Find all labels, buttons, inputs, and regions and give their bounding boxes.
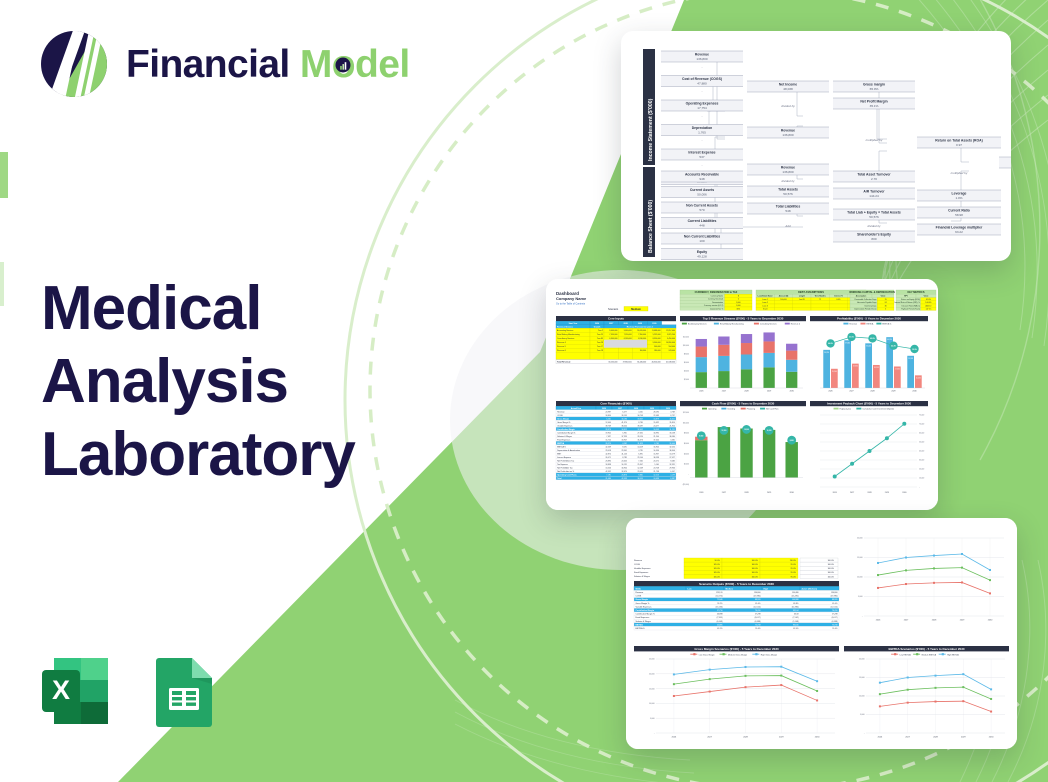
wc-section-row-label: Depreciation Period (Years)	[854, 308, 876, 311]
core-financials-cell: 4,262	[622, 443, 626, 445]
core-financials-row-label: Salaries & Wages	[557, 435, 572, 438]
scenario-input-value: 95.0%	[791, 568, 797, 570]
op-add: Add	[784, 224, 791, 228]
preview-ytick: 15,000	[857, 557, 863, 559]
debt-section-cell	[774, 301, 792, 304]
currency-section-row-value: 30%	[737, 308, 741, 310]
currency-section-row-value: 0	[738, 299, 739, 301]
revenue-streams-bar-segment	[763, 367, 774, 388]
scenario-outputs-row-label: Salaries & Wages	[636, 621, 651, 623]
payback-xtick: 2027	[850, 492, 854, 494]
ebitda-scenarios-chart-ytick: 5,000	[860, 714, 865, 716]
scenario-input-value: 105.0%	[714, 564, 721, 566]
scenario-outputs-cell: (4,898)	[755, 621, 761, 623]
cash-flow-chart-legend-swatch	[760, 408, 765, 410]
profitability-xtick: 2029	[891, 390, 895, 392]
core-inputs-cell-text: Revenue 4	[557, 342, 566, 344]
core-inputs-sub-label: Growth	[594, 325, 601, 328]
cash-flow-net-value: 10,100	[767, 430, 772, 432]
mid-total-liabilities-label: Total Liabilities	[776, 205, 801, 209]
core-inputs-total-value: 35,446,000	[637, 362, 646, 364]
core-financials-cell: 4,768	[670, 411, 674, 413]
final-current-ratio-label: Current Ratio	[948, 209, 970, 213]
core-financials-cell: 21,738	[653, 471, 658, 473]
debt-section-cell	[774, 307, 792, 310]
debt-section-cell	[829, 307, 847, 310]
scenario-outputs-cell: 65.0%	[755, 603, 761, 605]
scenario-outputs-cell: 59.2%	[717, 603, 723, 605]
core-inputs-cell-text: Year 25	[597, 334, 603, 336]
scenario-outputs-cell: 76,410	[832, 610, 838, 612]
is-node-0-label: Revenue	[695, 53, 709, 57]
ebitda-scenarios-chart-series-point	[907, 677, 909, 679]
debt-section-col-label: Interest %	[834, 295, 843, 298]
profitability-ebitda-bar	[915, 375, 922, 388]
metrics-section-row-value: 1.4 Yrs	[926, 309, 932, 311]
cash-flow-ytick: $2,000	[684, 464, 689, 466]
cash-flow-xtick: 2026	[699, 492, 703, 494]
core-inputs-cell-text: 8,390,000	[653, 338, 661, 340]
revenue-streams-bar-segment	[786, 351, 797, 360]
core-financials-cell: 42,332	[605, 471, 610, 473]
profitability-revenue-label: 40,324	[887, 339, 892, 341]
operator-minus: -	[701, 139, 702, 143]
scenario-outputs-col	[634, 586, 686, 590]
scenario-analysis-card[interactable]: Revenue90.0%100.0%110.0%100.0%COGS105.0%…	[626, 518, 1017, 749]
scenario-outputs-row	[634, 612, 839, 616]
final-fin-leverage-mult-label: Financial Leverage multiplier	[936, 226, 983, 230]
ratio-total-liab-equity-label: Total Liab + Equity = Total Assets	[847, 211, 901, 215]
core-financials-cell: 30,900	[621, 467, 626, 469]
core-financials-cell: 5,955	[622, 432, 626, 434]
scenario-outputs-cell: 63,58	[794, 614, 799, 616]
payback-ytick: 30,000	[919, 460, 924, 462]
is-node-4-value: 537	[699, 155, 704, 159]
scenario-input-value: 100.0%	[752, 560, 759, 562]
core-financials-cell: 15,725	[605, 439, 610, 441]
revenue-streams-xtick: 2030	[790, 390, 794, 392]
final-roa-label: Return on Total Assets (ROA)	[935, 139, 982, 143]
scenario-outputs-row-label: Fixed Expenses	[636, 617, 650, 619]
core-financials-cell: 27,631	[637, 432, 642, 434]
financial-dashboard: DashboardCompany NameGo to the Table of …	[546, 279, 938, 510]
ratio-total-asset-turnover-value: 2.70	[871, 177, 877, 181]
core-financials-cell: 8,084	[670, 460, 674, 462]
preview-series-point	[933, 555, 935, 557]
scenario-outputs-panel-title: Scenario Outputs ($'000) - 5 Years to De…	[699, 582, 774, 586]
debt-section-cell-text: Jan-26	[799, 299, 805, 301]
core-inputs-cell-text: 10,890,000	[666, 342, 675, 344]
core-financials-cell: 13,506	[605, 467, 610, 469]
cash-flow-chart-legend-label: Financing	[747, 409, 755, 411]
core-inputs-cell-text: Year 28	[597, 342, 603, 344]
brand-name-o: o	[332, 45, 355, 84]
core-financials-cell: 41,143	[621, 453, 626, 455]
revenue-streams-xtick: 2026	[699, 390, 703, 392]
revenue-streams-chart-legend-swatch	[682, 323, 687, 325]
scenario-outputs-row	[634, 616, 839, 620]
scenario-outputs-cell: (50,274)	[716, 596, 723, 598]
core-inputs-cell-text: 594,000	[669, 346, 676, 348]
gross-margin-scenarios-chart-series-point	[816, 680, 818, 682]
ebitda-scenarios-chart-ytick: 15,000	[859, 677, 865, 679]
core-inputs-cell-text: Year 2	[598, 330, 603, 332]
preview-ytick: 20,000	[857, 538, 863, 540]
core-financials-cell: 31,291	[669, 429, 674, 431]
scenario-outputs-cell: 88,920	[755, 599, 761, 601]
currency-section-row-value: 1,000	[736, 302, 741, 304]
ratio-shareholders-equity-label: Shareholder's Equity	[857, 233, 891, 237]
gross-margin-scenarios-chart-series-point	[745, 675, 747, 677]
core-financials-cell: 18,907	[621, 439, 626, 441]
cash-flow-chart-legend-label: Operating	[708, 408, 716, 411]
scenario-outputs-cell: 76,410	[755, 610, 761, 612]
revenue-streams-bar-segment	[786, 344, 797, 351]
dupont-analysis-card[interactable]: Income Statement ($'000) Balance Sheet (…	[621, 31, 1011, 261]
scenario-input-label: Fixed Expenses	[634, 572, 648, 574]
revenue-streams-bar-segment	[696, 357, 707, 372]
dupont-analysis-diagram: Income Statement ($'000) Balance Sheet (…	[621, 31, 1011, 261]
ebitda-scenarios-chart-legend-marker	[942, 653, 944, 655]
currency-section-row-value: 1,000	[736, 305, 741, 307]
core-financials-cell: 27,027	[669, 457, 674, 459]
scenario-input-label: Revenue	[634, 560, 643, 562]
gross-margin-scenarios-chart-series-point	[709, 669, 711, 671]
bs-node-2-label: Non Current Assets	[686, 204, 718, 208]
mid-revenue-value: 136,800	[782, 133, 793, 137]
core-financials-row-label: Net Profit After Tax	[557, 466, 572, 469]
core-financials-col-label: 2028	[634, 408, 638, 410]
core-inputs-total-value: 41,538,000	[666, 362, 675, 364]
core-financials-cell: 37,993	[621, 436, 626, 438]
mini-chart-dot-icon	[336, 57, 351, 72]
core-inputs-blank-row	[662, 352, 676, 359]
core-financials-cell: 21,084	[605, 478, 610, 480]
wc-section-col-label: Value	[881, 296, 886, 298]
bs-node-0-label: Accounts Receivable	[685, 173, 719, 177]
left-content-pane: Financial Mo del Medical Analysis Labora…	[0, 0, 470, 782]
scenario-input-value: 90.0%	[715, 560, 721, 562]
core-financials-cell: 6,477	[622, 411, 626, 413]
revenue-streams-bar-segment	[718, 356, 729, 371]
profitability-chart-title: Profitability ($'000) - 5 Years to Decem…	[837, 317, 901, 321]
core-financials-cell: 38,580	[669, 436, 674, 438]
wc-section-col-label: Assumption	[856, 295, 866, 298]
core-financials-row-label: Fixed Expenses	[557, 439, 570, 441]
core-financials-cell: 38,555	[637, 478, 642, 480]
debt-section-cell-text: Loan 3	[762, 305, 768, 307]
gross-margin-scenarios-chart-title: Gross Margin Scenarios ($'000) - 5 Years…	[694, 647, 779, 651]
core-inputs-cell-text: 5,821,200	[667, 334, 675, 336]
payback-point	[850, 462, 854, 466]
core-inputs-blank-block	[604, 340, 647, 348]
pie-bar-circle-logo-icon	[36, 26, 112, 102]
is-node-3-value: 1,765	[698, 131, 706, 135]
scenario-outputs-row	[634, 598, 839, 602]
preview-series-point	[933, 582, 935, 584]
revenue-streams-bar-segment	[741, 369, 752, 388]
ratio-total-liab-equity-value: 50,576	[869, 215, 879, 219]
scenario-outputs-row-label: COGS	[636, 596, 642, 598]
scenario-outputs-row-label: Variable Expenses	[636, 606, 652, 608]
ebitda-scenarios-chart-series-point	[990, 688, 992, 690]
ebitda-scenarios-chart-series-point	[962, 686, 964, 688]
ratio-total-asset-turnover-label: Total Asset Turnover	[857, 173, 891, 177]
core-financials-cell: 28,876	[605, 429, 610, 431]
scenario-outputs-row	[634, 601, 839, 605]
core-financials-cell: 41,374	[621, 422, 626, 424]
core-financials-col-label: 2030	[666, 408, 670, 410]
final-fin-leverage-mult-value: 63.22	[955, 230, 963, 234]
core-financials-cell: 28,290	[653, 411, 658, 413]
gross-margin-scenarios-chart-series-point	[780, 675, 782, 677]
scenario-outputs-row-label: EBITDA	[636, 623, 644, 626]
core-financials-cell: 23,451	[637, 471, 642, 473]
core-financials-panel-title: Core Financials ($'000)	[600, 402, 631, 406]
core-financials-row-label: Gross Margin	[557, 417, 570, 420]
core-financials-cell: 34,743	[637, 415, 642, 417]
core-financials-cell: 39,497	[637, 425, 642, 427]
core-financials-cell: 23,894	[605, 460, 610, 462]
preview-series-point	[961, 581, 963, 583]
core-financials-row-label: EBITDA	[557, 442, 565, 445]
debt-section-cell	[829, 304, 847, 307]
core-financials-cell: 42,469	[605, 446, 610, 448]
scenario-outputs-cell: 65.0%	[832, 603, 838, 605]
scenario-active-value: 100.0%	[828, 572, 835, 574]
scenario-outputs-cell: 75,708	[755, 624, 761, 626]
payback-xtick: 2029	[885, 492, 889, 494]
brand-name-financial: Financial	[126, 43, 290, 86]
operator-minus: -	[701, 65, 702, 69]
revenue-streams-bar-segment	[763, 353, 774, 367]
scenario-outputs-cell: 150,480	[792, 592, 799, 594]
revenue-streams-ytick: $4,000	[684, 371, 689, 373]
is-node-0-value: 136,800	[696, 57, 707, 61]
preview-series-point	[905, 569, 907, 571]
bs-node-3-label: Current Liabilities	[688, 219, 717, 223]
core-inputs-cell-text: 12,857,460	[666, 330, 675, 332]
mid-total-liabilities-value: 548	[785, 209, 790, 213]
scenario-outputs-row-label: Contribution Margin	[636, 609, 655, 612]
profitability-xtick: 2027	[849, 390, 853, 392]
core-inputs-sub-label: Revenue Streams	[557, 325, 573, 328]
scenario-active-value: 100.0%	[828, 560, 835, 562]
core-financials-cell: 13,879	[653, 418, 658, 420]
core-inputs-cell	[618, 348, 632, 352]
revenue-streams-chart-title: Top 5 Revenue Streams ($'000) - 5 Years …	[703, 317, 784, 321]
scenario-outputs-col-label: Low	[688, 588, 692, 590]
core-financials-cell: 30,186	[621, 418, 626, 420]
gross-margin-scenarios-chart-legend-marker	[723, 653, 725, 655]
gross-margin-scenarios-chart-series-point	[673, 695, 675, 697]
revenue-streams-bar-segment	[696, 347, 707, 358]
headline-line-2: Analysis	[41, 345, 355, 418]
scenario-outputs-row	[634, 619, 839, 623]
wc-section-row-label: Inventory Days	[864, 304, 876, 307]
revenue-streams-ytick: $10,000	[683, 345, 689, 347]
core-inputs-col-label: 2027	[609, 323, 613, 325]
ebitda-scenarios-chart-series-point	[879, 682, 881, 684]
gross-margin-scenarios-chart-series-point	[673, 683, 675, 685]
scenario-outputs-cell: (47,880)	[754, 596, 761, 598]
table-of-contents-link: Go to the Table of Contents	[556, 303, 586, 306]
core-financials-cell: 28,124	[637, 436, 642, 438]
gross-margin-scenarios-chart-series-point	[816, 699, 818, 701]
preview-series-point	[905, 557, 907, 559]
core-inputs-cell-text: 8,400,000	[609, 330, 617, 332]
core-financials-cell: 25,907	[637, 464, 642, 466]
cash-flow-ytick: $6,000	[684, 443, 689, 445]
core-inputs-col-label: 2028	[623, 323, 627, 325]
debt-section-cell-text: 6.0%	[836, 299, 840, 301]
ebitda-scenarios-chart-series-point	[962, 673, 964, 675]
scenario-outputs-row	[634, 594, 839, 598]
debt-section-col-label: Length	[799, 295, 805, 298]
scenario-input-value: 95.0%	[791, 572, 797, 574]
ebitda-scenarios-chart-series-point	[990, 711, 992, 713]
operator-minus: -	[701, 163, 702, 167]
debt-section-cell	[811, 301, 829, 304]
revenue-streams-xtick: 2028	[744, 390, 748, 392]
metrics-section-row-value: 61.0%	[926, 299, 931, 301]
financial-dashboard-card[interactable]: DashboardCompany NameGo to the Table of …	[546, 279, 938, 510]
scenario-outputs-col	[686, 586, 724, 590]
core-inputs-cell-text: Year 17	[597, 346, 603, 348]
bs-node-5-value: 49,128	[697, 255, 707, 259]
payback-point	[833, 475, 837, 479]
wc-section-row-value: 5	[885, 309, 886, 311]
core-financials-cell: 32,000	[669, 443, 674, 445]
cash-flow-operating-bar	[740, 428, 752, 477]
scenario-input-value: 100.0%	[752, 568, 759, 570]
revenue-streams-bar-segment	[696, 372, 707, 388]
scenario-value: Medium	[631, 307, 641, 311]
cash-flow-ytick: $8,000	[684, 433, 689, 435]
ratio-gross-margin-value: 65.0%	[870, 87, 879, 91]
preview-ytick: 5,000	[858, 596, 863, 598]
core-inputs-total-value: 40,324,000	[652, 362, 661, 364]
profitability-chart-legend-swatch	[876, 323, 881, 325]
core-inputs-col-label: 2026	[595, 323, 599, 325]
core-inputs-total-label: Total Revenue	[557, 361, 571, 364]
op-divided-2: divided by	[781, 179, 795, 183]
scenario-outputs-cell: 57,710	[717, 610, 723, 612]
headline-line-1: Medical	[41, 272, 355, 345]
core-inputs-total-value: 37,860,000	[623, 362, 632, 364]
preview-series-point	[877, 562, 879, 564]
revenue-streams-bar-segment	[718, 371, 729, 388]
revenue-streams-bar-segment	[763, 341, 774, 352]
is-node-3-label: Depreciation	[692, 126, 713, 130]
ratio-gross-margin-label: Gross margin	[863, 83, 885, 87]
op-divided-3: divided by	[867, 224, 881, 228]
core-inputs-cell-text: Consultancy Services	[557, 337, 574, 340]
core-financials-cell: 8,737	[670, 415, 674, 417]
profitability-ebitda-pct-value: 51.1%	[849, 337, 854, 339]
core-financials-cell: 15,937	[653, 453, 658, 455]
payback-point	[868, 449, 872, 453]
cash-flow-operating-bar	[695, 440, 707, 477]
ebitda-scenarios-chart-legend-marker	[916, 653, 918, 655]
scenario-outputs-cell: (7,562)	[793, 617, 799, 619]
bs-node-4-value: 100	[699, 239, 704, 243]
core-financials-cell: 8,736	[638, 422, 642, 424]
scenario-outputs-cell: (4,898)	[832, 621, 838, 623]
revenue-streams-bar-segment	[741, 343, 752, 354]
scenario-outputs-cell: 57,298	[755, 614, 761, 616]
gross-margin-scenarios-chart-ytick: 15,000	[649, 688, 655, 690]
ebitda-scenarios-chart-series-point	[935, 701, 937, 703]
core-financials-cell: 29,361	[621, 450, 626, 452]
currency-section-row-label: Currency Decimals	[708, 299, 723, 301]
core-inputs-cell-text: 11,688,600	[652, 330, 661, 332]
debt-section-cell	[793, 304, 811, 307]
metrics-section-row-label: Internal Rate of Return (IRR), %	[894, 301, 920, 304]
gross-margin-scenarios-chart-series-point	[816, 690, 818, 692]
scenario-outputs-row-label: Gross Margin %	[636, 603, 650, 605]
revenue-streams-xtick: 2029	[767, 390, 771, 392]
core-financials-col-label: 2029	[650, 408, 654, 410]
profitability-chart-legend-label: EBITDA	[866, 323, 874, 326]
revenue-streams-xtick: 2027	[722, 390, 726, 392]
ebitda-scenarios-chart-series-point	[907, 702, 909, 704]
core-financials-cell: 26,071	[605, 457, 610, 459]
gross-margin-scenarios-chart-legend-label: Low Gross Margin	[699, 654, 715, 656]
core-financials-cell: 38,400	[621, 425, 626, 427]
core-financials-cell: 32,050	[669, 446, 674, 448]
core-financials-cell: 24,477	[653, 425, 658, 427]
ebitda-scenarios-chart-series-point	[962, 700, 964, 702]
cash-flow-chart-title: Cash Flow ($'000) - 5 Years to December …	[712, 402, 775, 406]
debt-section-title: DEBT ASSUMPTIONS	[798, 291, 824, 294]
ebitda-scenarios-chart-series-point	[879, 693, 881, 695]
core-financials-cell: 14,029	[637, 446, 642, 448]
scenario-outputs-cell: 136,800	[831, 592, 838, 594]
cash-flow-xtick: 2029	[767, 492, 771, 494]
core-financials-cell: 7,195	[606, 474, 610, 476]
core-financials-cell: 4,525	[638, 411, 642, 413]
currency-section-row-label: Currency version (0,1,2)	[704, 305, 724, 307]
scenario-outputs-col-label: $000s	[636, 588, 642, 590]
core-financials-cell: 16,336	[653, 450, 658, 452]
debt-section-cell-text: 72	[819, 299, 821, 301]
scenario-input-label: Variable Expenses	[634, 568, 651, 570]
scenario-outputs-col-label: Active (Medium)	[802, 587, 818, 590]
cash-flow-chart-legend-swatch	[741, 408, 746, 410]
core-financials-cell: 3,336	[670, 439, 674, 441]
scenario-input-label: COGS	[634, 564, 641, 566]
metrics-section-row-value: 144.0%	[925, 302, 931, 304]
ebitda-scenarios-chart-title: EBITDA Scenarios ($'000) - 5 Years to De…	[888, 647, 964, 651]
scenario-outputs-cell: (7,955)	[717, 617, 723, 619]
core-financials-cell: 10,509	[653, 429, 658, 431]
payback-ytick: 20,000	[919, 469, 924, 471]
scenario-outputs-cell: (8,017)	[832, 617, 838, 619]
core-inputs-cell-text: 180,000	[654, 350, 661, 352]
scenario-outputs-cell: 72,846	[717, 599, 723, 601]
ebitda-scenarios-chart-series-point	[935, 687, 937, 689]
core-financials-cell: 32,670	[621, 471, 626, 473]
preview-ytick: 10,000	[857, 577, 863, 579]
revenue-streams-ytick: $6,000	[684, 362, 689, 364]
core-inputs-sub-label: Revenue Forecast for years 1	[627, 325, 653, 328]
core-financials-cell: 42,399	[621, 478, 626, 480]
core-financials-cell: 6,547	[670, 471, 674, 473]
profitability-xtick: 2026	[828, 390, 832, 392]
cash-flow-ytick: ($2,000)	[683, 484, 690, 486]
currency-section-row-label: Currency Name	[711, 296, 724, 298]
